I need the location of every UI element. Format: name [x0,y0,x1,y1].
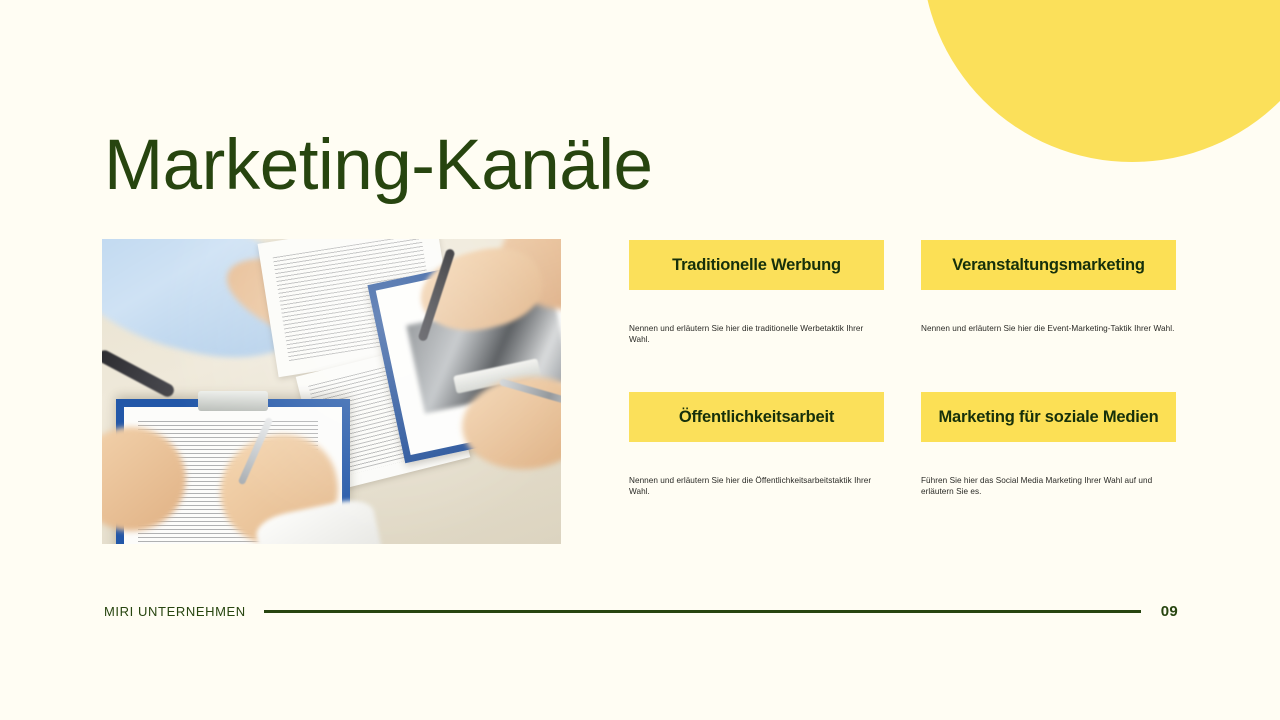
corner-decoration-circle [922,0,1280,162]
photo-light-grade [102,239,561,544]
card-heading: Marketing für soziale Medien [939,408,1159,426]
card-header-veranstaltungsmarketing[interactable]: Veranstaltungsmarketing [921,240,1176,290]
card-veranstaltungsmarketing: Veranstaltungsmarketing Nennen und erläu… [921,240,1176,345]
card-traditionelle-werbung: Traditionelle Werbung Nennen und erläute… [629,240,884,345]
slide-footer: MIRI UNTERNEHMEN 09 [104,600,1178,622]
page-title: Marketing-Kanäle [104,130,652,201]
footer-divider-rule [264,610,1141,613]
card-heading: Öffentlichkeitsarbeit [679,408,834,426]
card-social-media-marketing: Marketing für soziale Medien Führen Sie … [921,392,1176,497]
slide-canvas: Marketing-Kanäle [0,0,1280,720]
card-header-traditionelle-werbung[interactable]: Traditionelle Werbung [629,240,884,290]
card-header-oeffentlichkeitsarbeit[interactable]: Öffentlichkeitsarbeit [629,392,884,442]
card-body-traditionelle-werbung: Nennen und erläutern Sie hier die tradit… [629,323,884,345]
footer-page-number: 09 [1161,603,1178,620]
card-body-veranstaltungsmarketing: Nennen und erläutern Sie hier die Event-… [921,323,1176,334]
marketing-channel-cards: Traditionelle Werbung Nennen und erläute… [629,240,1178,497]
footer-brand-name: MIRI UNTERNEHMEN [104,604,246,619]
card-oeffentlichkeitsarbeit: Öffentlichkeitsarbeit Nennen und erläute… [629,392,884,497]
card-header-social-media-marketing[interactable]: Marketing für soziale Medien [921,392,1176,442]
meeting-photo [102,239,561,544]
card-heading: Veranstaltungsmarketing [952,256,1145,274]
card-heading: Traditionelle Werbung [672,256,841,274]
card-body-oeffentlichkeitsarbeit: Nennen und erläutern Sie hier die Öffent… [629,475,884,497]
card-body-social-media-marketing: Führen Sie hier das Social Media Marketi… [921,475,1176,497]
